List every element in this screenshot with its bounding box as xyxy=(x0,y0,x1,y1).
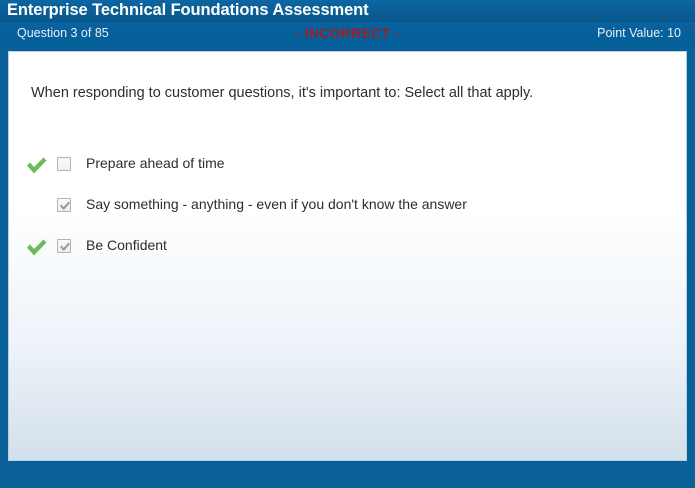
answer-option-row[interactable]: Prepare ahead of time xyxy=(9,152,687,193)
footer-bar xyxy=(0,466,695,488)
answer-checkbox[interactable] xyxy=(57,239,71,253)
green-check-icon xyxy=(25,155,49,175)
checkbox-tick-icon xyxy=(59,240,71,252)
answer-checkbox[interactable] xyxy=(57,198,71,212)
answer-option-label: Say something - anything - even if you d… xyxy=(86,193,467,215)
answer-option-list: Prepare ahead of time Say something - an… xyxy=(9,152,687,275)
answer-option-row[interactable]: Be Confident xyxy=(9,234,687,275)
answer-option-label: Be Confident xyxy=(86,234,167,256)
page-title: Enterprise Technical Foundations Assessm… xyxy=(7,0,369,21)
quiz-window: Enterprise Technical Foundations Assessm… xyxy=(0,0,695,488)
question-panel: When responding to customer questions, i… xyxy=(8,51,687,461)
status-bar: Question 3 of 85 - INCORRECT - Point Val… xyxy=(0,22,695,47)
answer-option-row[interactable]: Say something - anything - even if you d… xyxy=(9,193,687,234)
green-check-icon xyxy=(25,237,49,257)
status-badge: - INCORRECT - xyxy=(0,25,695,41)
checkbox-tick-icon xyxy=(59,199,71,211)
answer-option-label: Prepare ahead of time xyxy=(86,152,225,174)
title-bar: Enterprise Technical Foundations Assessm… xyxy=(0,0,695,22)
question-prompt: When responding to customer questions, i… xyxy=(31,83,651,103)
point-value: Point Value: 10 xyxy=(597,26,681,40)
answer-checkbox[interactable] xyxy=(57,157,71,171)
result-mark-placeholder xyxy=(25,196,49,216)
